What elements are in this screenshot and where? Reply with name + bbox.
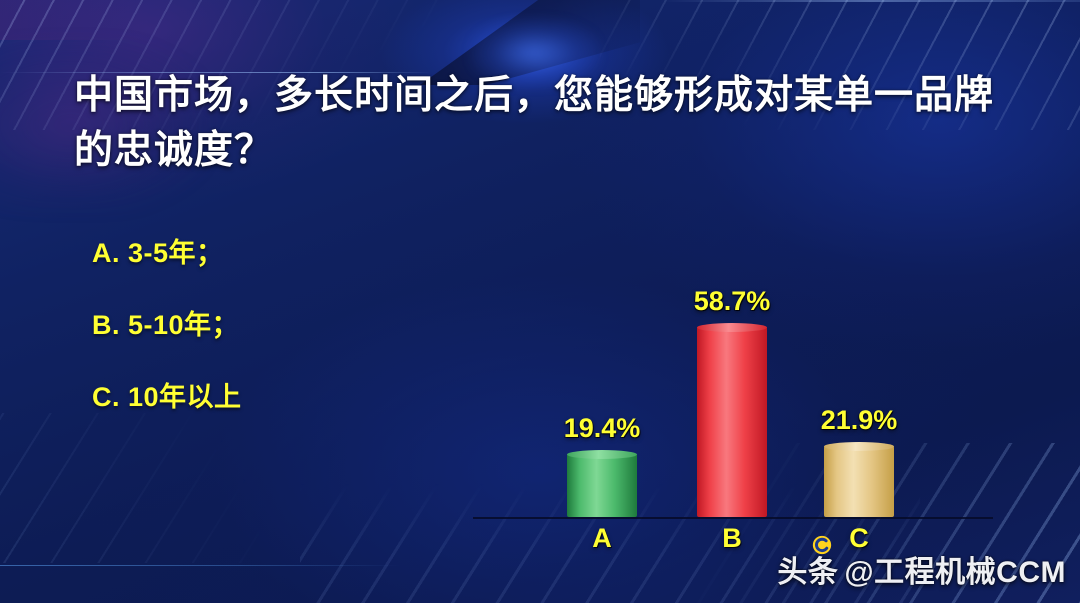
- bar-category-label-b: B: [697, 523, 767, 554]
- bar-group-c: 21.9% C: [824, 446, 894, 517]
- watermark: 头条 @工程机械CCM: [777, 547, 1066, 591]
- option-item-b: B. 5-10年；: [92, 310, 472, 382]
- bar-cylinder-top-a: [567, 450, 637, 459]
- bar-chart: 19.4% A 58.7% B 21.9% C: [470, 250, 995, 560]
- bar-cylinder-top-c: [824, 442, 894, 451]
- background-horizontal-line-upper-right: [660, 0, 1080, 2]
- bar-cylinder-c: [824, 446, 894, 517]
- presentation-slide: 中国市场，多长时间之后，您能够形成对某单一品牌的忠诚度？ A. 3-5年； B.…: [0, 0, 1080, 603]
- bar-group-b: 58.7% B: [697, 327, 767, 517]
- option-label-a: A. 3-5年；: [92, 238, 224, 268]
- bar-category-label-a: A: [567, 523, 637, 554]
- option-item-c: C. 10年以上: [92, 382, 472, 454]
- bar-cylinder-b: [697, 327, 767, 517]
- option-item-a: A. 3-5年；: [92, 238, 472, 310]
- bar-cylinder-a: [567, 454, 637, 517]
- watermark-platform: 头条: [777, 547, 838, 591]
- bar-group-a: 19.4% A: [567, 454, 637, 517]
- bar-value-label-a: 19.4%: [564, 413, 641, 444]
- option-label-c: C. 10年以上: [92, 382, 242, 412]
- watermark-handle: @工程机械CCM: [844, 547, 1066, 591]
- bar-value-label-b: 58.7%: [694, 286, 771, 317]
- bar-cylinder-body-c: [824, 446, 894, 517]
- bar-cylinder-top-b: [697, 323, 767, 332]
- bar-value-label-c: 21.9%: [821, 405, 898, 436]
- chart-baseline-axis: [473, 517, 993, 519]
- background-horizontal-line-bottom: [0, 565, 400, 566]
- bar-cylinder-body-b: [697, 327, 767, 517]
- option-label-b: B. 5-10年；: [92, 310, 239, 340]
- answer-options-list: A. 3-5年； B. 5-10年； C. 10年以上: [92, 238, 472, 454]
- bar-cylinder-body-a: [567, 454, 637, 517]
- background-accent-shape: [0, 0, 150, 40]
- slide-title: 中国市场，多长时间之后，您能够形成对某单一品牌的忠诚度？: [74, 68, 1004, 178]
